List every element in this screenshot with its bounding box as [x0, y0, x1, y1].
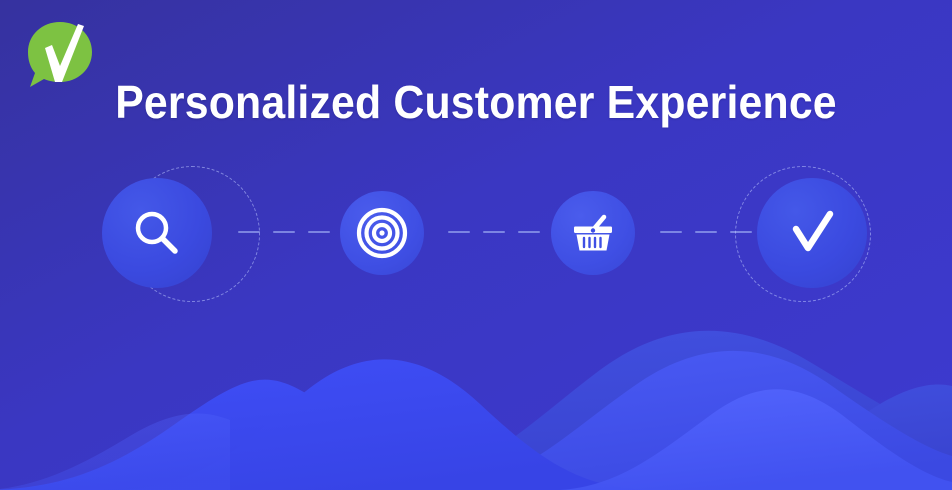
banner-root: Personalized Customer Experience — [0, 0, 952, 490]
dash-segment — [518, 231, 540, 233]
search-icon — [129, 205, 185, 261]
step-circle[interactable] — [551, 191, 635, 275]
step-check[interactable] — [735, 160, 880, 305]
step-search[interactable] — [102, 160, 247, 305]
dash-segment — [448, 231, 470, 233]
dash-segment — [483, 231, 505, 233]
dash-segment — [273, 231, 295, 233]
target-icon — [356, 207, 408, 259]
dash-segment — [660, 231, 682, 233]
step-target[interactable] — [340, 160, 424, 305]
steps-row — [0, 160, 952, 305]
dash-segment — [308, 231, 330, 233]
step-basket[interactable] — [551, 160, 635, 305]
step-circle[interactable] — [340, 191, 424, 275]
connector-2-3 — [448, 231, 540, 233]
dash-segment — [695, 231, 717, 233]
page-title: Personalized Customer Experience — [33, 74, 918, 130]
step-circle[interactable] — [102, 178, 212, 288]
check-icon — [783, 204, 841, 262]
shopping-basket-icon — [569, 209, 617, 257]
step-circle[interactable] — [757, 178, 867, 288]
